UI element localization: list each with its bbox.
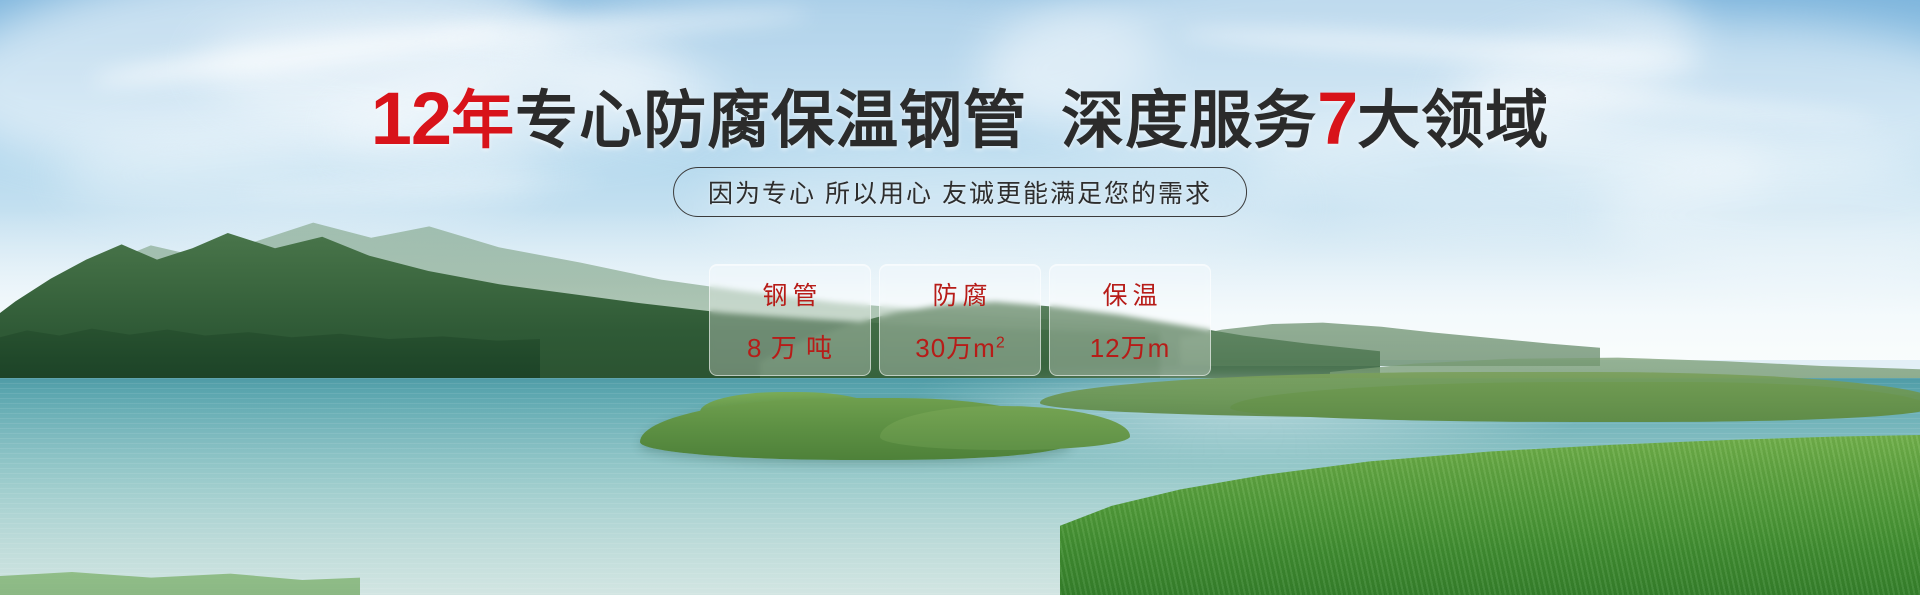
headline-fields-text: 大领域 (1357, 86, 1549, 156)
stat-card-group: 钢管 8 万 吨 防腐 30万m2 保温 12万m (709, 264, 1211, 376)
stat-card-value: 8 万 吨 (747, 328, 833, 365)
banner-subtitle-text: 因为专心 所以用心 友诚更能满足您的需求 (708, 174, 1212, 210)
stat-card-value-text: 30万m (915, 333, 996, 363)
headline-service-text: 深度服务 (1061, 86, 1317, 156)
stat-card-value: 30万m2 (915, 328, 1005, 365)
stat-card-steel-pipe[interactable]: 钢管 8 万 吨 (709, 264, 871, 376)
stat-card-anticorrosion[interactable]: 防腐 30万m2 (879, 264, 1041, 376)
banner-headline: 12年专心防腐保温钢管深度服务7大领域 (0, 82, 1920, 156)
stat-card-value-superscript: 2 (996, 334, 1005, 351)
stat-card-value-text: 8 万 吨 (747, 333, 833, 363)
stat-card-label: 钢管 (757, 276, 822, 312)
stat-card-label: 防腐 (927, 276, 992, 312)
banner-subtitle-pill: 因为专心 所以用心 友诚更能满足您的需求 (673, 167, 1247, 217)
stat-card-insulation[interactable]: 保温 12万m (1049, 264, 1211, 376)
stat-card-value-text: 12万m (1090, 333, 1171, 363)
stat-card-value: 12万m (1090, 328, 1171, 365)
headline-years-unit: 年 (451, 86, 515, 156)
stat-card-label: 保温 (1097, 276, 1162, 312)
hero-banner: 12年专心防腐保温钢管深度服务7大领域 因为专心 所以用心 友诚更能满足您的需求… (0, 0, 1920, 595)
headline-fields-number: 7 (1317, 77, 1357, 160)
headline-years-number: 12 (371, 77, 451, 160)
headline-main-text: 专心防腐保温钢管 (515, 86, 1027, 156)
